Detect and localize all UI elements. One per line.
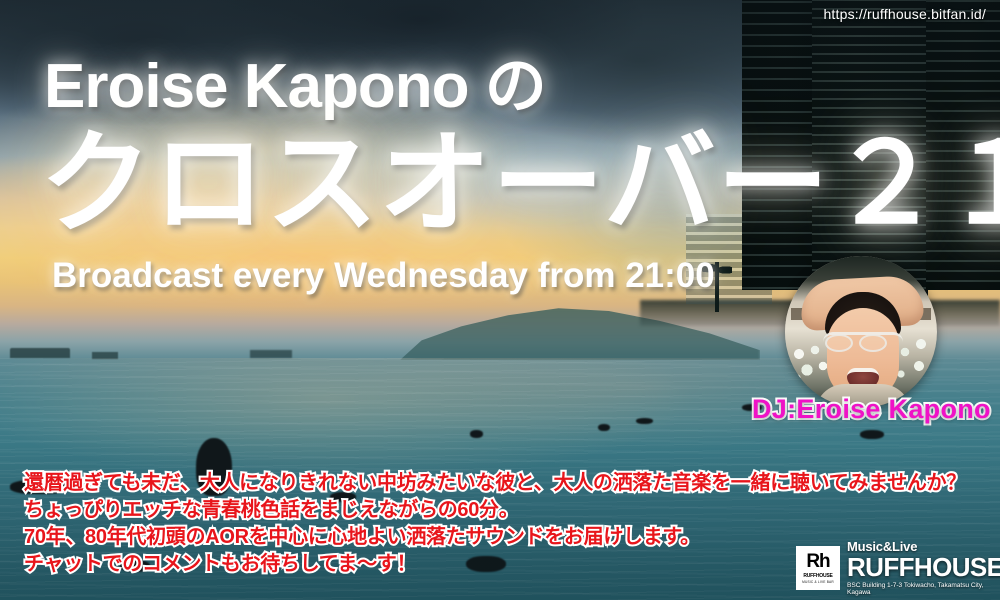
website-url[interactable]: https://ruffhouse.bitfan.id/ (823, 6, 986, 22)
logo-monogram: Rh (806, 552, 829, 571)
ruffhouse-mark-icon: Rh RUFFHOUSE MUSIC & LIVE BAR (796, 546, 840, 590)
glasses-lens (825, 334, 853, 352)
dj-portrait-avatar (785, 256, 937, 408)
show-description: 還暦過ぎても未だ、大人になりきれない中坊みたいな彼と、大人の洒落た音楽を一緒に聴… (24, 470, 824, 578)
glasses-lens (859, 334, 887, 352)
sponsor-tagline: Music&Live (847, 540, 1000, 553)
promo-banner: https://ruffhouse.bitfan.id/ Eroise Kapo… (0, 0, 1000, 600)
logo-mark-sub: MUSIC & LIVE BAR (802, 580, 834, 584)
sponsor-brand: RUFFHOUSE (847, 554, 1000, 580)
dj-name-label: DJ:Eroise Kapono (752, 394, 991, 425)
sponsor-address: BSC Building 1-7-3 Tokiwacho, Takamatsu … (847, 583, 1000, 596)
description-line: ちょっぴりエッチな青春桃色話をまじえながらの60分。 (24, 497, 824, 524)
show-title-line-1: Eroise Kapono の (44, 56, 546, 118)
description-line: チャットでのコメントもお待ちしてま～す！ (24, 551, 824, 578)
sponsor-logo[interactable]: Rh RUFFHOUSE MUSIC & LIVE BAR Music&Live… (796, 542, 992, 594)
description-line: 還暦過ぎても未だ、大人になりきれない中坊みたいな彼と、大人の洒落た音楽を一緒に聴… (24, 470, 824, 497)
broadcast-schedule: Broadcast every Wednesday from 21:00 (52, 258, 715, 293)
sponsor-logo-text: Music&Live RUFFHOUSE BSC Building 1-7-3 … (847, 540, 1000, 596)
description-line: 70年、80年代初頭のAORを中心に心地よい洒落たサウンドをお届けします。 (24, 524, 824, 551)
logo-mark-name: RUFFHOUSE (803, 573, 832, 579)
show-title-line-2: クロスオーバー２１ (40, 128, 1000, 240)
